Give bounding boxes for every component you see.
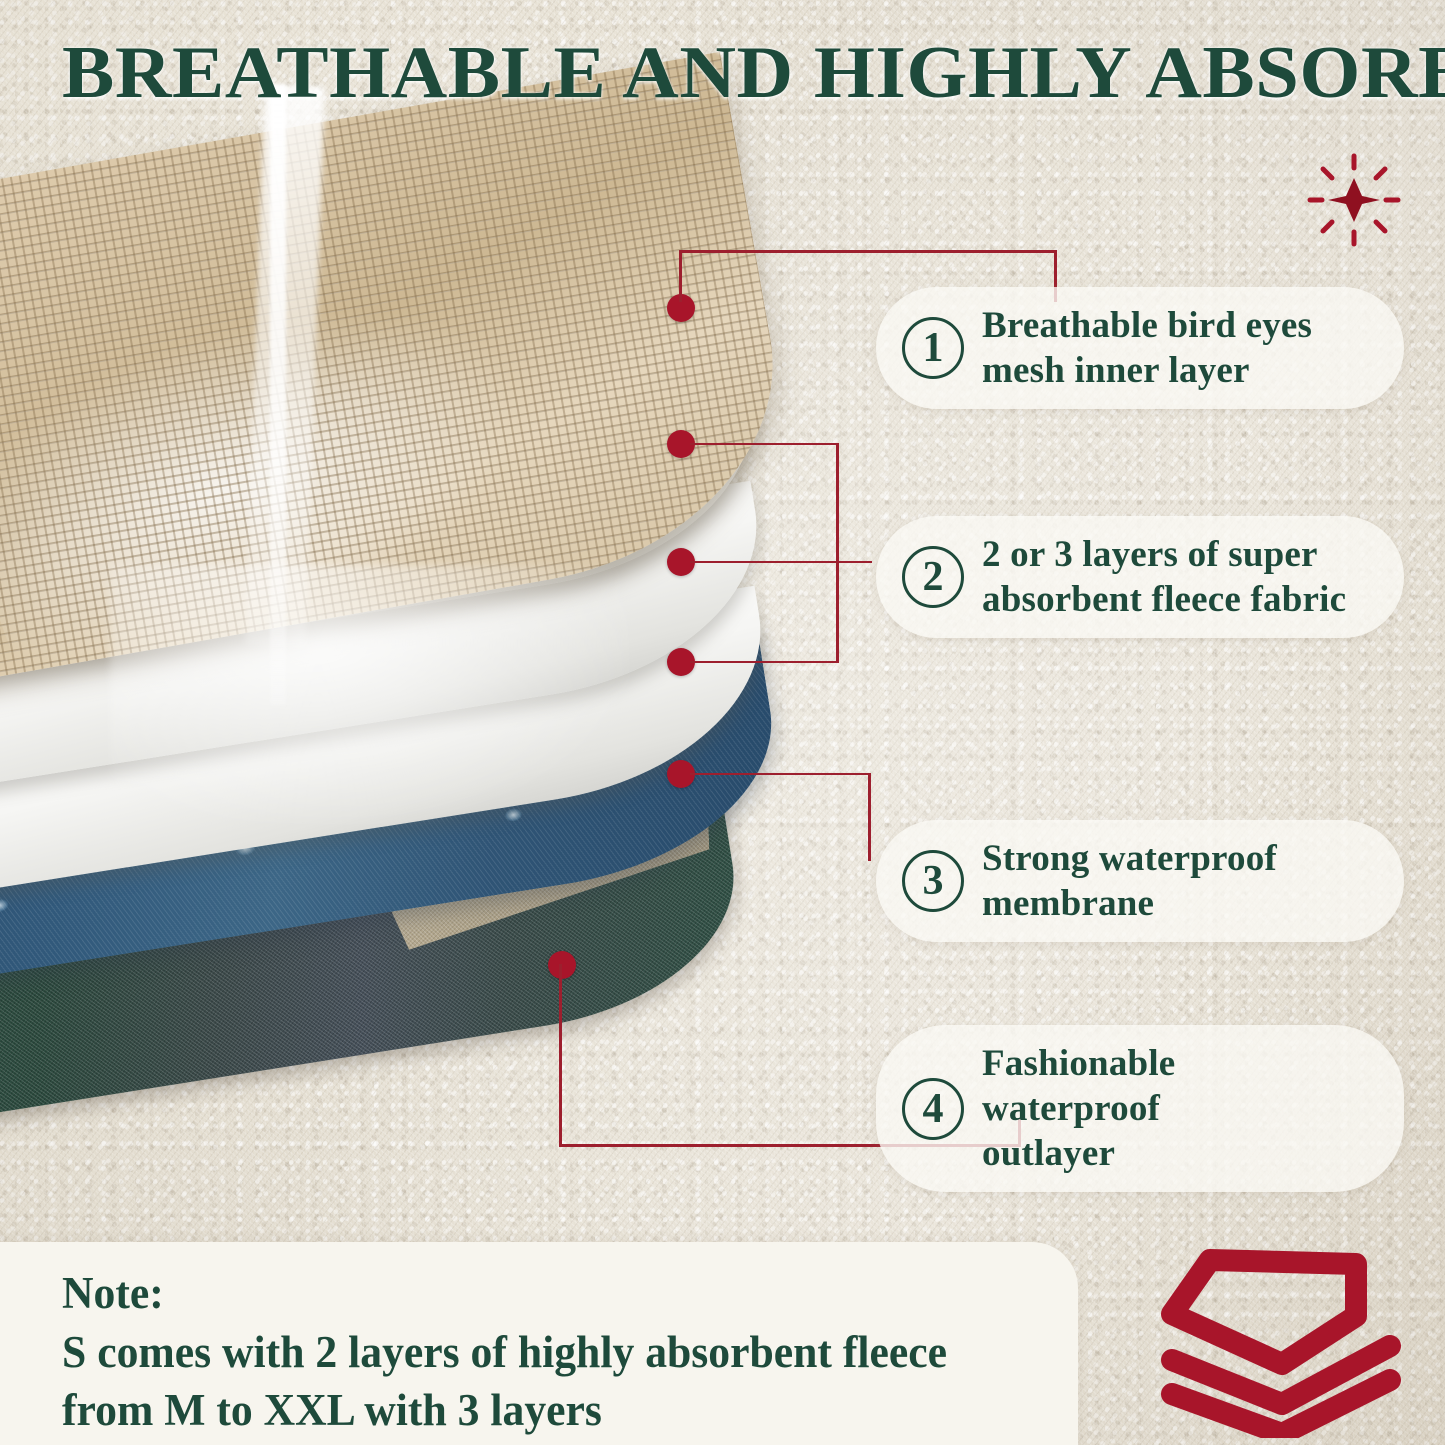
marker-dot-4 (548, 951, 576, 979)
connector-2-spine (836, 443, 839, 663)
connector-1-vertical (679, 250, 682, 302)
connector-2-bottom (690, 661, 838, 663)
product-infographic: BREATHABLE AND HIGHLY ABSORBENT 1 (0, 0, 1445, 1445)
water-splash (110, 565, 630, 825)
callout-2-number: 2 (902, 546, 964, 608)
note-text: Note: S comes with 2 layers of highly ab… (62, 1264, 1042, 1440)
callout-1-label: Breathable bird eyes mesh inner layer (982, 303, 1312, 393)
connector-3-horizontal (690, 773, 870, 775)
callout-3-label: Strong waterproof membrane (982, 836, 1277, 926)
stacked-layers-icon (1158, 1242, 1408, 1438)
page-title: BREATHABLE AND HIGHLY ABSORBENT (62, 36, 1445, 110)
callout-4-label: Fashionable waterproof outlayer (982, 1041, 1362, 1176)
connector-1-horizontal (679, 250, 1057, 253)
callout-1-number: 1 (902, 317, 964, 379)
callout-4-number: 4 (902, 1078, 964, 1140)
callout-4[interactable]: 4 Fashionable waterproof outlayer (876, 1025, 1404, 1192)
callout-2[interactable]: 2 2 or 3 layers of super absorbent fleec… (876, 516, 1404, 638)
callout-2-label: 2 or 3 layers of super absorbent fleece … (982, 532, 1346, 622)
connector-3-drop (868, 773, 871, 861)
water-stream-core (270, 85, 286, 705)
callout-3-number: 3 (902, 850, 964, 912)
callout-1[interactable]: 1 Breathable bird eyes mesh inner layer (876, 287, 1404, 409)
connector-2-top (690, 443, 838, 445)
callout-3[interactable]: 3 Strong waterproof membrane (876, 820, 1404, 942)
fabric-layer-stack-illustration (0, 95, 870, 1105)
connector-2-middle (690, 561, 872, 563)
connector-4-vertical (559, 964, 562, 1146)
sparkle-star-icon (1306, 152, 1402, 248)
